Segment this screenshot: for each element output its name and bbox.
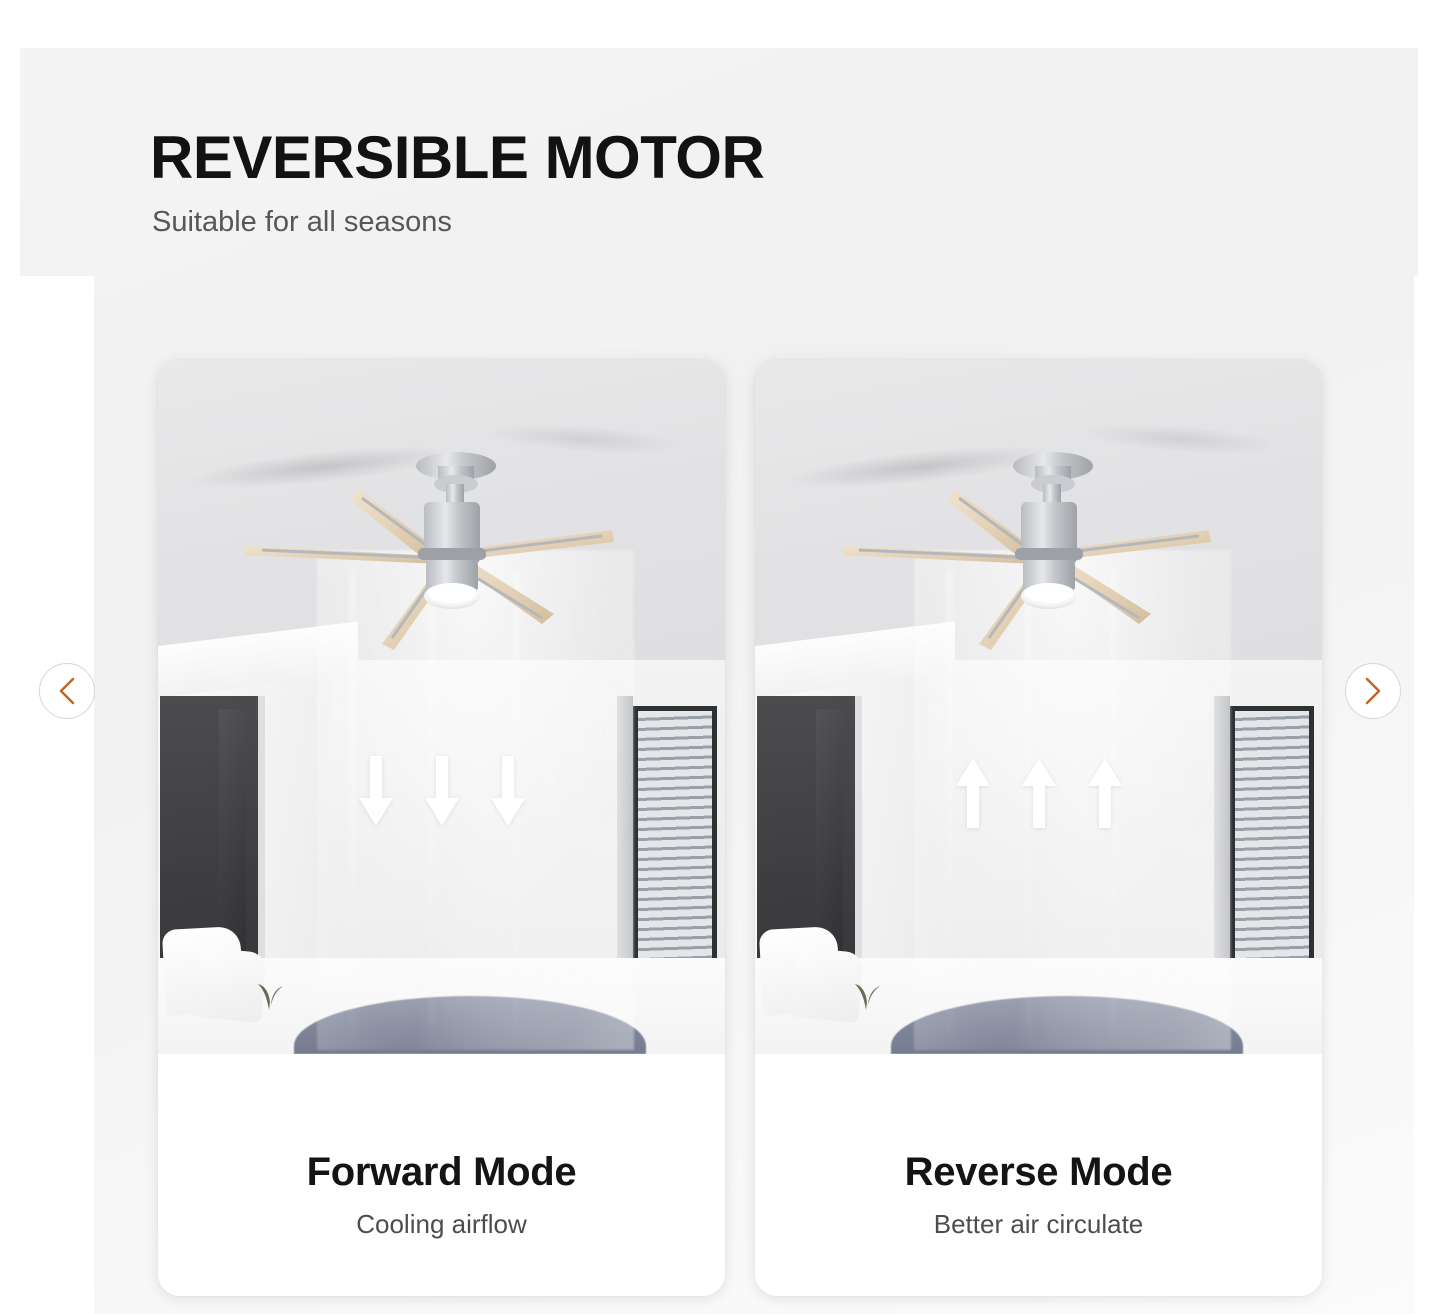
arrow-down-icon <box>424 756 460 828</box>
promo-headings: REVERSIBLE MOTOR Suitable for all season… <box>150 126 1050 240</box>
airflow-arrows-down <box>358 756 526 828</box>
arrow-down-icon <box>490 756 526 828</box>
promo-panel: REVERSIBLE MOTOR Suitable for all season… <box>20 48 1418 1314</box>
caption-reverse: Reverse Mode Better air circulate <box>755 1054 1322 1296</box>
mode-card-forward[interactable]: Forward Mode Cooling airflow <box>158 360 725 1296</box>
card-title: Reverse Mode <box>905 1150 1173 1195</box>
arrow-up-icon <box>1021 756 1057 828</box>
arrow-down-icon <box>358 756 394 828</box>
arrow-up-icon <box>1087 756 1123 828</box>
card-subtitle: Cooling airflow <box>356 1209 527 1240</box>
right-gutter <box>1414 276 1418 1314</box>
mode-card-reverse[interactable]: Reverse Mode Better air circulate <box>755 360 1322 1296</box>
ceiling-fan-icon <box>839 438 1239 658</box>
card-title: Forward Mode <box>307 1150 577 1195</box>
fan-photo-reverse <box>755 360 1322 1054</box>
airflow-arrows-up <box>955 756 1123 828</box>
carousel-prev-button[interactable] <box>39 663 95 719</box>
left-gutter <box>20 276 94 1314</box>
fan-photo-forward <box>158 360 725 1054</box>
caption-forward: Forward Mode Cooling airflow <box>158 1054 725 1296</box>
ceiling-fan-icon <box>242 438 642 658</box>
chevron-right-icon <box>1364 677 1382 705</box>
plant-icon <box>252 964 286 1010</box>
page-subtitle: Suitable for all seasons <box>152 205 1050 240</box>
promo-slide: REVERSIBLE MOTOR Suitable for all season… <box>0 0 1440 1314</box>
page-title: REVERSIBLE MOTOR <box>150 126 1050 191</box>
chevron-left-icon <box>58 677 76 705</box>
card-subtitle: Better air circulate <box>934 1209 1144 1240</box>
plant-icon <box>849 964 883 1010</box>
carousel-next-button[interactable] <box>1345 663 1401 719</box>
mode-cards: Forward Mode Cooling airflow <box>158 360 1322 1296</box>
arrow-up-icon <box>955 756 991 828</box>
